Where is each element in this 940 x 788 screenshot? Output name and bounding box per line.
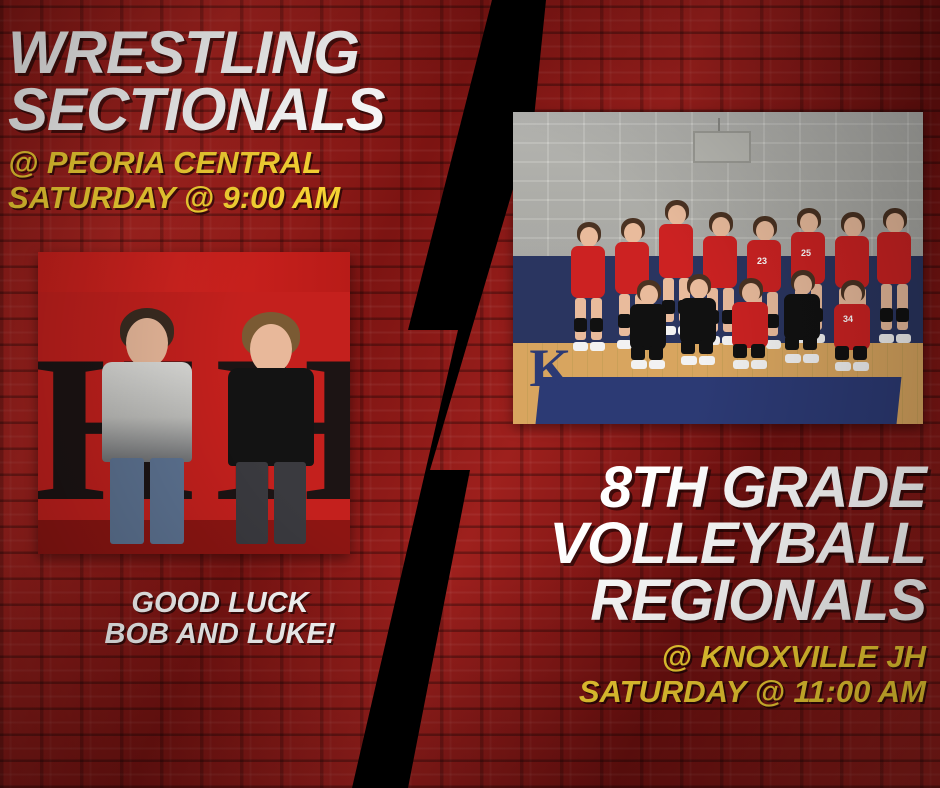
volleyball-player [871, 208, 917, 370]
volleyball-player-kneeling [675, 274, 721, 374]
volleyball-location: @ KNOXVILLE JH [406, 639, 926, 674]
volleyball-photo: K [513, 112, 923, 424]
volleyball-player-34: 34 [829, 280, 875, 378]
volleyball-headline-line2: VOLLEYBALL [406, 516, 926, 572]
floor-blue-zone [535, 377, 901, 424]
volleyball-headline-line3: REGIONALS [406, 573, 926, 629]
jersey-number: 23 [757, 256, 767, 266]
volleyball-time: SATURDAY @ 11:00 AM [406, 674, 926, 709]
jersey-number: 34 [843, 314, 853, 324]
volleyball-player-kneeling [625, 280, 671, 376]
volleyball-headline-line1: 8TH GRADE [406, 460, 926, 516]
jersey-number: 25 [801, 248, 811, 258]
volleyball-player [565, 222, 611, 372]
poster-canvas: WRESTLING SECTIONALS @ PEORIA CENTRAL SA… [0, 0, 940, 788]
volleyball-player-kneeling [727, 278, 773, 376]
volleyball-player-kneeling [779, 270, 825, 376]
backboard [693, 131, 750, 163]
right-headline-block: 8TH GRADE VOLLEYBALL REGIONALS @ KNOXVIL… [406, 460, 926, 709]
